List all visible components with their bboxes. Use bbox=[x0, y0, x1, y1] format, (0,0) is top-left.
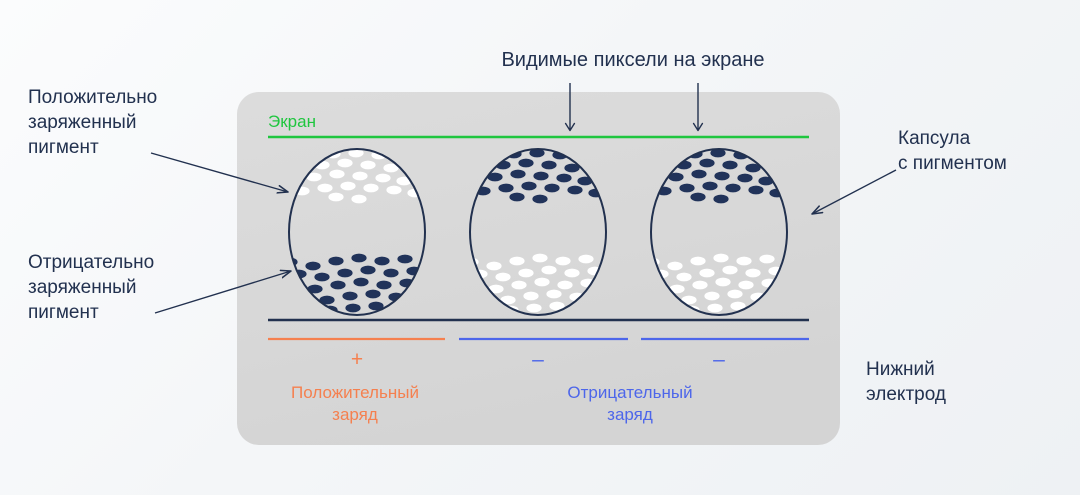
charge-sign-1: + bbox=[351, 348, 363, 371]
charge-label-1-line1: Положительный bbox=[291, 383, 419, 402]
charge-label-1-line2: заряд bbox=[332, 405, 378, 424]
callout-positive-pigment-line1: Положительно bbox=[28, 87, 157, 108]
charge-sign-2: – bbox=[532, 348, 544, 371]
callout-capsule-line2: с пигментом bbox=[898, 153, 1007, 174]
callout-capsule-line1: Капсула bbox=[898, 128, 971, 149]
charge-sign-3: – bbox=[713, 348, 725, 371]
callout-positive-pigment-line3: пигмент bbox=[28, 137, 99, 158]
charge-label-2-line1: Отрицательный bbox=[567, 383, 692, 402]
callout-positive-pigment-line2: заряженный bbox=[28, 112, 136, 133]
epaper-diagram: Видимые пиксели на экране Экран bbox=[0, 0, 1080, 495]
diagram-stage: Видимые пиксели на экране Экран bbox=[0, 0, 1080, 495]
callout-bottom-electrode-line1: Нижний bbox=[866, 359, 935, 380]
screen-label: Экран bbox=[268, 112, 316, 131]
page-title: Видимые пиксели на экране bbox=[501, 49, 764, 71]
callout-negative-pigment-line3: пигмент bbox=[28, 302, 99, 323]
callout-negative-pigment-line1: Отрицательно bbox=[28, 252, 154, 273]
callout-negative-pigment-line2: заряженный bbox=[28, 277, 136, 298]
charge-label-2-line2: заряд bbox=[607, 405, 653, 424]
callout-bottom-electrode-line2: электрод bbox=[866, 384, 946, 405]
